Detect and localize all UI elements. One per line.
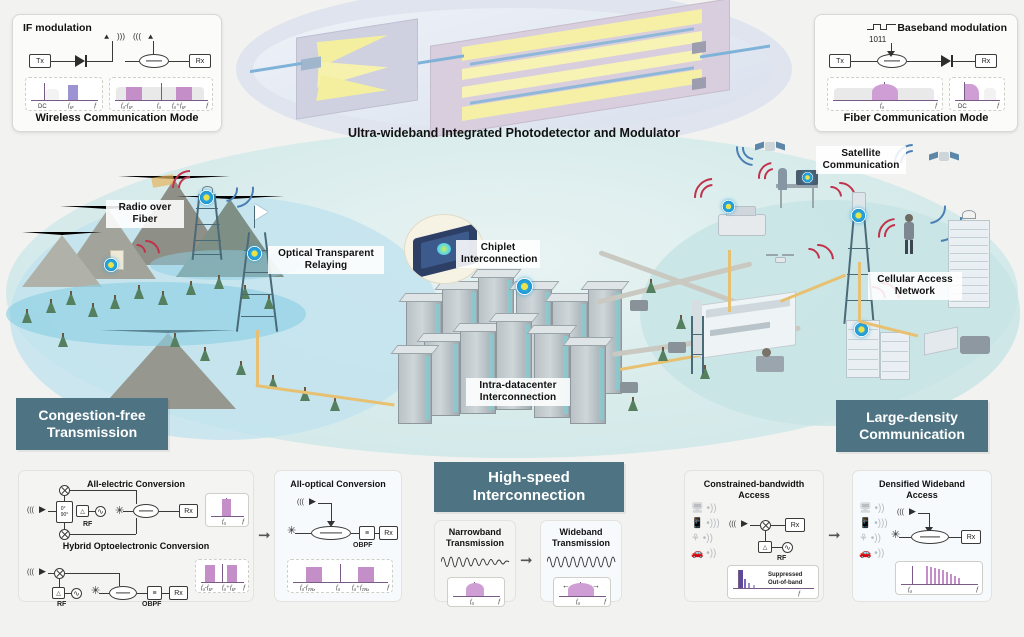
all-optical-title: All-optical Conversion xyxy=(275,479,401,490)
wideband-title: Wideband Transmission xyxy=(541,527,621,549)
flow-arrow: ➞ xyxy=(258,528,271,543)
car-icon: 🚗 •)) xyxy=(691,546,720,561)
relay-tower xyxy=(240,222,274,332)
wireless-spectrum-rf: f0-fIF f0 f0+fIF f xyxy=(109,77,213,111)
drone-icon xyxy=(766,254,794,264)
densified-title: Densified Wideband Access xyxy=(853,479,991,501)
optical-node-icon xyxy=(104,258,118,272)
rf-label: RF xyxy=(57,601,66,608)
smartphone-icon: 📱 •))) xyxy=(859,516,888,531)
hybrid-title: Hybrid Optoelectronic Conversion xyxy=(19,541,253,552)
fiber-communication-card: Baseband modulation 1011 Tx Rx f0 f xyxy=(814,14,1018,132)
flow-arrow: ➞ xyxy=(520,553,533,568)
panel-all-optical: All-optical Conversion ((( ▶ ≡ Rx OBPF f… xyxy=(274,470,402,602)
banner-high-speed: High-speed Interconnection xyxy=(434,462,624,512)
wideband-spectrum: ← → f0 f xyxy=(553,577,611,607)
scene-label-intra-datacenter-interconnection: Intra-datacenter Interconnection xyxy=(466,378,570,406)
tx-block: Tx xyxy=(29,54,51,68)
obpf-label: OBPF xyxy=(142,601,161,608)
rx-block: Rx xyxy=(169,586,188,600)
vehicle-icon xyxy=(718,214,766,236)
constrained-spectrum: Suppressed Out-of-band f xyxy=(727,565,819,599)
monitor-icon: 🖥 •)) xyxy=(859,501,888,516)
rx-block: Rx xyxy=(189,54,211,68)
flow-arrow: ➞ xyxy=(828,528,841,543)
scene-label-chiplet-interconnection: Chiplet Interconnection xyxy=(456,240,540,268)
obpf-block: ≡ xyxy=(359,526,375,540)
narrowband-title: Narrowband Transmission xyxy=(435,527,515,549)
all-electric-spectrum: f0 f xyxy=(205,493,249,527)
rf-label: RF xyxy=(777,555,786,562)
narrowband-spectrum: f0 f xyxy=(447,577,505,607)
wireless-card-footer: Wireless Communication Mode xyxy=(13,112,221,124)
monitor-icon: 🖥 •)) xyxy=(691,501,720,516)
panel-densified-wideband: Densified Wideband Access 🖥 •)) 📱 •))) ⚘… xyxy=(852,470,992,602)
bitstream-waveform xyxy=(867,24,897,34)
scene-label-radio-over-fiber: Radio over Fiber xyxy=(106,200,184,228)
satellite-icon xyxy=(930,150,956,162)
obpf-block: ≡ xyxy=(147,586,162,600)
scene-label-satellite-communication: Satellite Communication xyxy=(816,146,906,174)
optical-node-icon xyxy=(247,246,262,261)
suppressed-annotation: Suppressed Out-of-band xyxy=(768,571,802,587)
person-figure xyxy=(960,336,990,354)
rx-block: Rx xyxy=(179,504,198,518)
panel-narrowband: Narrowband Transmission f0 f xyxy=(434,520,516,602)
drone-icon: ⚘ •)) xyxy=(691,531,720,546)
optical-node-icon xyxy=(516,278,533,295)
small-house xyxy=(620,382,638,393)
bitstream-label: 1011 xyxy=(869,35,886,44)
device-icon-column: 🖥 •)) 📱 •))) ⚘ •)) 🚗 •)) xyxy=(859,501,888,561)
banner-large-density: Large-density Communication xyxy=(836,400,988,452)
chip-caption: Ultra-wideband Integrated Photodetector … xyxy=(236,126,792,140)
small-house xyxy=(630,300,648,311)
hybrid-coupler: 0° 90° xyxy=(56,501,73,523)
wideband-chirp-waveform xyxy=(547,551,617,573)
obpf-label: OBPF xyxy=(353,542,372,549)
wireless-communication-card: IF modulation Tx ⯅ ))) ((( ⯅ Rx DC fIF f xyxy=(12,14,222,132)
scene-label-optical-transparent-relaying: Optical Transparent Relaying xyxy=(268,246,384,274)
scene-label-cellular-access-network: Cellular Access Network xyxy=(868,272,962,300)
rx-block: Rx xyxy=(961,530,981,544)
fiber-card-footer: Fiber Communication Mode xyxy=(815,112,1017,124)
hybrid-spectrum: f0-fIF f0+fIF f xyxy=(195,559,249,593)
smartphone-icon: 📱 •))) xyxy=(691,516,720,531)
fiber-spectrum-optical: f0 f xyxy=(827,77,943,111)
tx-block: Tx xyxy=(829,54,851,68)
all-electric-title: All-electric Conversion xyxy=(19,479,253,490)
all-optical-spectrum: f0-fTHz f0 f0+fTHz f xyxy=(287,559,393,593)
small-house xyxy=(668,342,686,353)
rx-block: Rx xyxy=(975,54,997,68)
rf-label: RF xyxy=(83,521,92,528)
fiber-spectrum-baseband: DC f xyxy=(949,77,1005,111)
constrained-title: Constrained-bandwidth Access xyxy=(685,479,823,501)
fiber-card-title: Baseband modulation xyxy=(897,22,1007,34)
device-icon-column: 🖥 •)) 📱 •))) ⚘ •)) 🚗 •)) xyxy=(691,501,720,561)
banner-congestion-free: Congestion-free Transmission xyxy=(16,398,168,450)
wireless-card-title: IF modulation xyxy=(23,22,92,34)
panel-wideband: Wideband Transmission ← → f0 f xyxy=(540,520,622,602)
rx-block: Rx xyxy=(379,526,398,540)
densified-spectrum: f0 f xyxy=(895,561,983,595)
narrowband-chirp-waveform xyxy=(441,551,511,573)
drone-icon: ⚘ •)) xyxy=(859,531,888,546)
figure-canvas: Ultra-wideband Integrated Photodetector … xyxy=(0,0,1024,637)
modulator-symbol xyxy=(139,54,169,68)
car-icon: 🚗 •)) xyxy=(859,546,888,561)
panel-conversion-legacy: All-electric Conversion ((( ▶ 0° 90° △ R… xyxy=(18,470,254,602)
residential-building xyxy=(880,332,910,380)
panel-constrained-bandwidth: Constrained-bandwidth Access 🖥 •)) 📱 •))… xyxy=(684,470,824,602)
rx-block: Rx xyxy=(785,518,805,532)
wireless-spectrum-if: DC fIF f xyxy=(25,77,103,111)
person-figure xyxy=(756,356,784,372)
amplifier-block: △ xyxy=(76,505,89,517)
